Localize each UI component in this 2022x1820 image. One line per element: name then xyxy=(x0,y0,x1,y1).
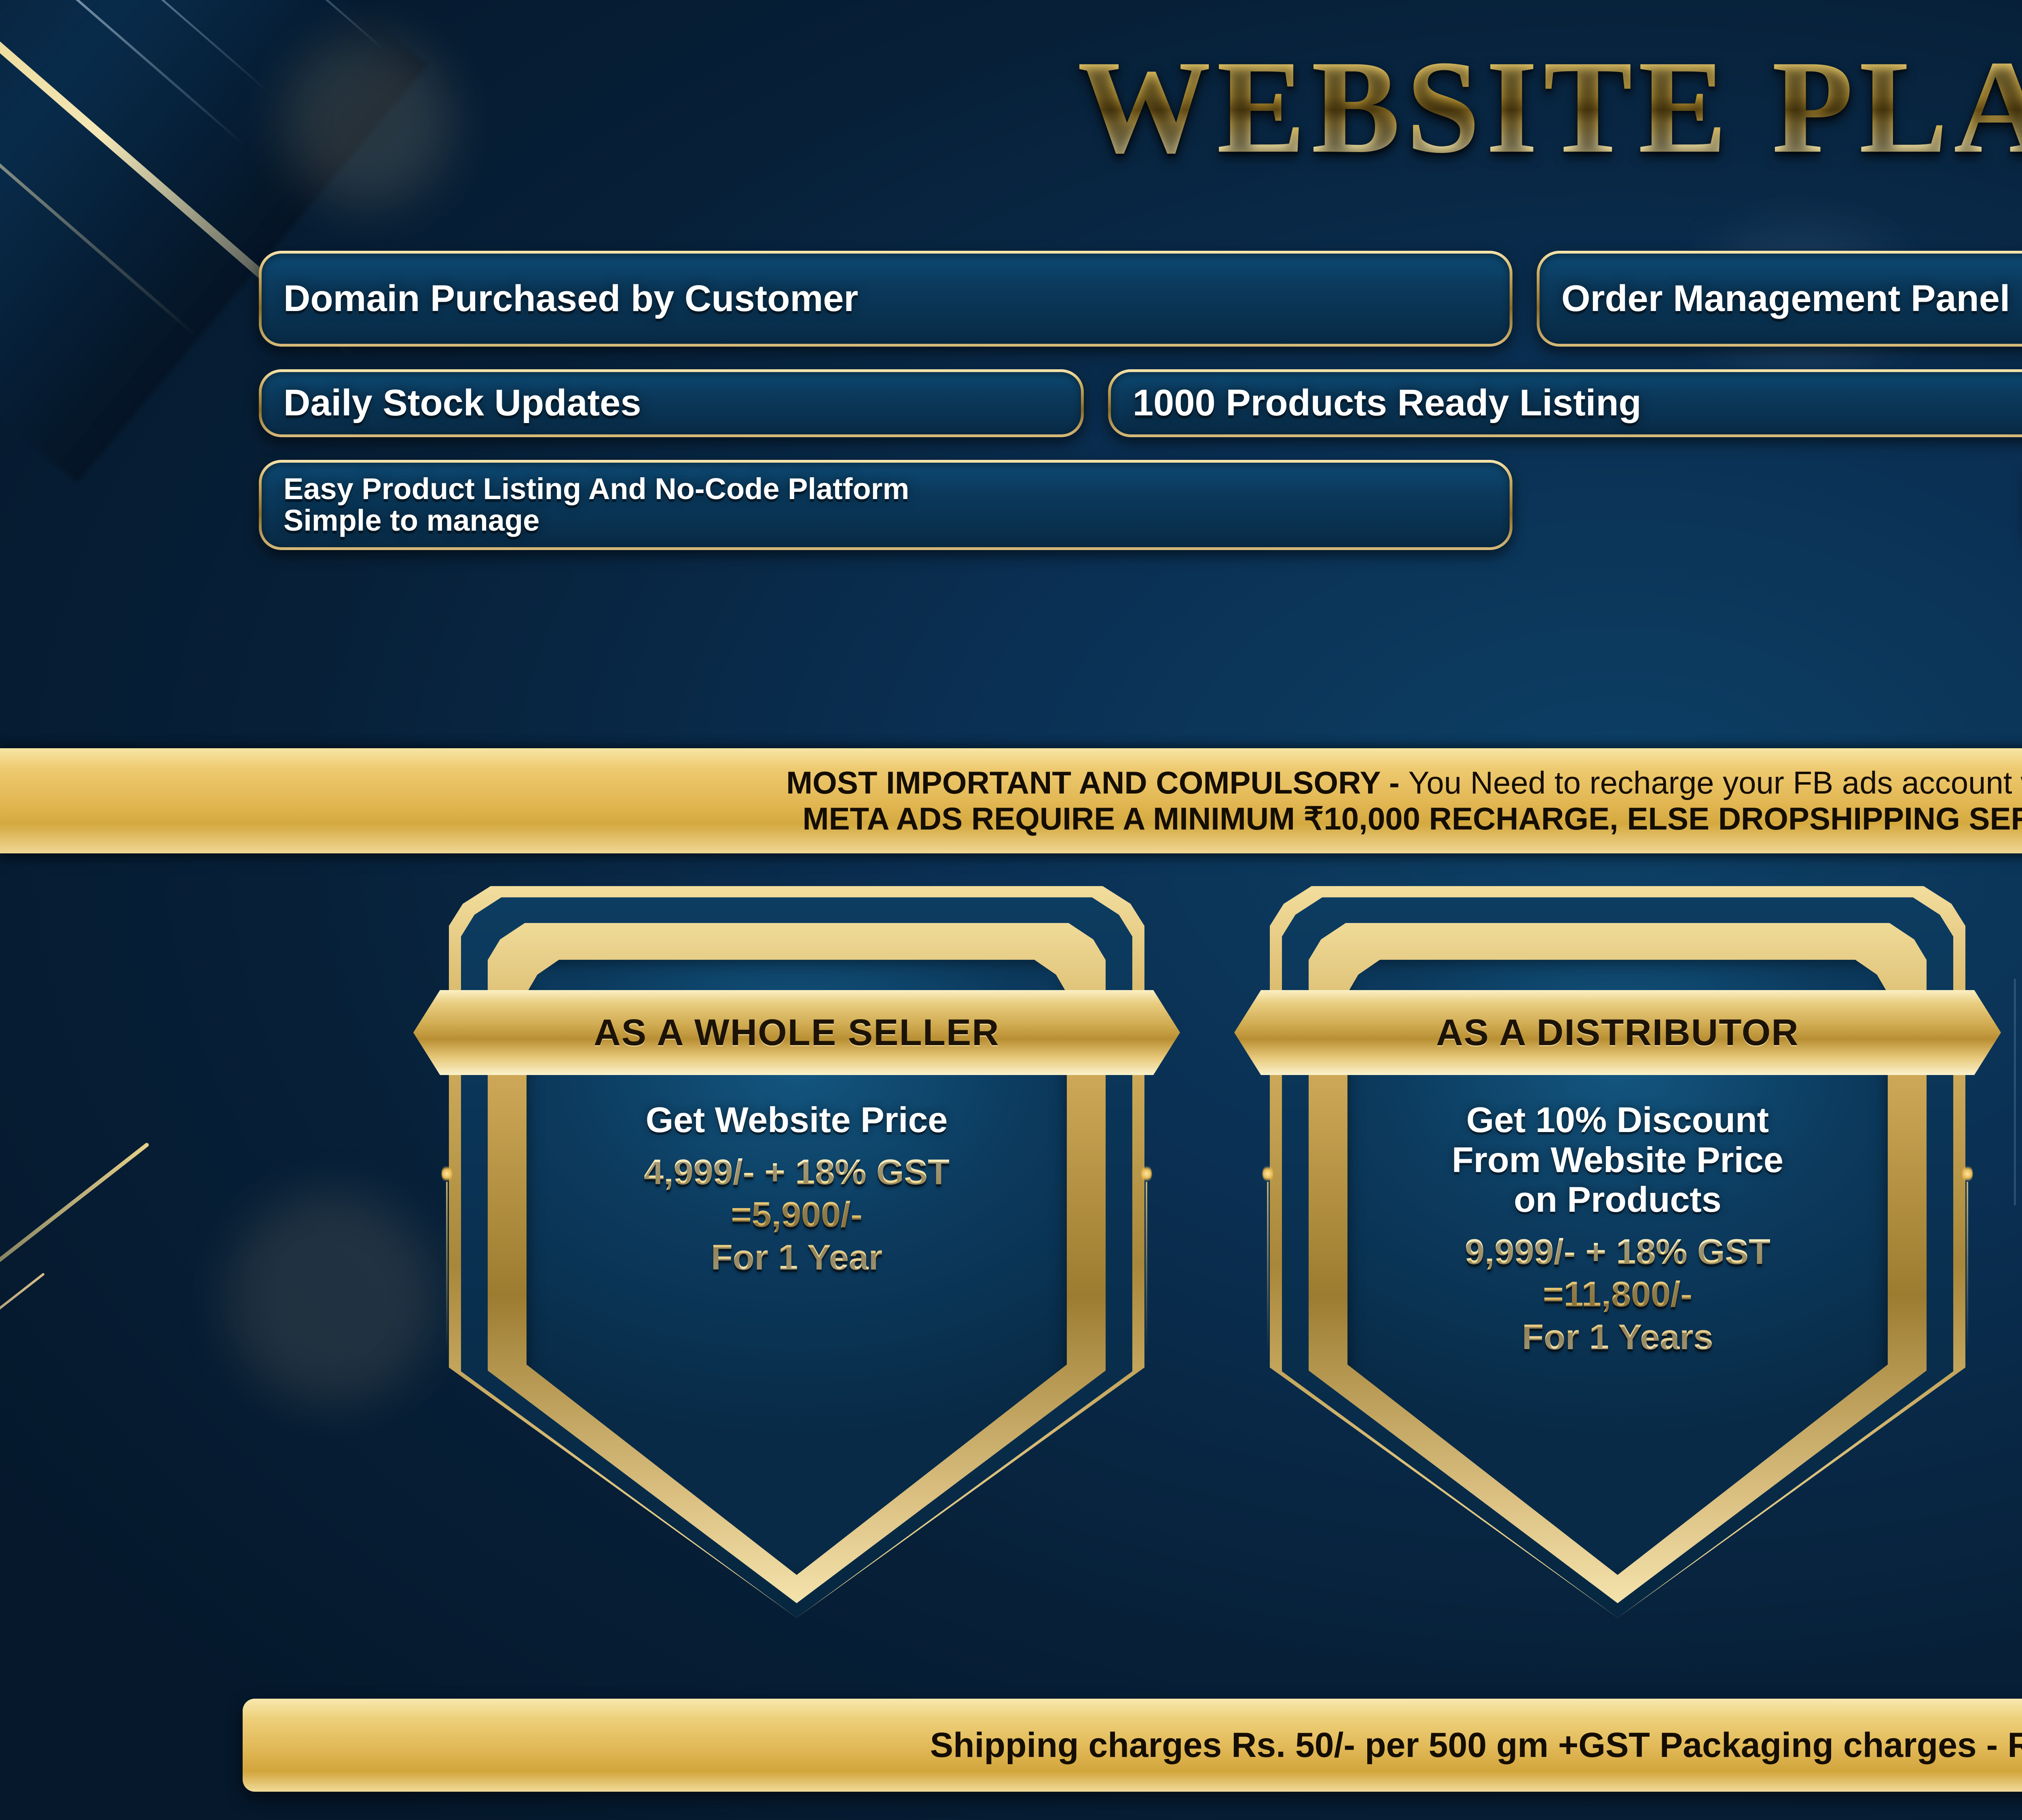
notice-line-2: META ADS REQUIRE A MINIMUM ₹10,000 RECHA… xyxy=(802,801,2022,837)
notice-line-1-rest: You Need to recharge your FB ads account… xyxy=(1408,765,2022,800)
shipping-charges-label: Shipping charges Rs. 50/- per 500 gm +GS… xyxy=(930,1725,2022,1765)
feature-row-3: Easy Product Listing And No-Code Platfor… xyxy=(259,460,2022,550)
feature-label: Domain Purchased by Customer xyxy=(283,279,858,319)
feature-pill-easy-listing[interactable]: Easy Product Listing And No-Code Platfor… xyxy=(259,460,1512,550)
notice-line-1: MOST IMPORTANT AND COMPULSORY - You Need… xyxy=(786,765,2022,801)
spark-dot xyxy=(1141,1165,1152,1183)
spark-dot xyxy=(1263,1165,1273,1183)
feature-pill-daily-stock[interactable]: Daily Stock Updates xyxy=(259,369,1084,437)
spark-dot xyxy=(442,1165,452,1183)
feature-pill-domain[interactable]: Domain Purchased by Customer xyxy=(259,251,1512,347)
poster-canvas: WEBSITE PLAN Domain Purchased by Custome… xyxy=(0,0,2022,1820)
feature-pill-order-management[interactable]: Order Management Panel No Monthly Hostin… xyxy=(1537,251,2022,347)
feature-label: 1000 Products Ready Listing xyxy=(1133,383,1641,423)
card-price: 9,999/- + 18% GST =11,800/- For 1 Years xyxy=(1330,1230,1905,1359)
card-headline: Get 10% Discount From Website Price on P… xyxy=(1330,1100,1905,1220)
card-ribbon-label: AS A DISTRIBUTOR xyxy=(1436,1012,1799,1054)
card-price: 4,999/- + 18% GST =5,900/- For 1 Year xyxy=(510,1151,1084,1279)
spark-tail xyxy=(446,1182,448,1352)
feature-pill-products-listing[interactable]: 1000 Products Ready Listing xyxy=(1108,369,2022,437)
pricing-card-whole-seller[interactable]: AS A WHOLE SELLER Get Website Price 4,99… xyxy=(449,882,1144,1618)
card-ribbon: AS A DISTRIBUTOR xyxy=(1234,990,2001,1075)
card-body: Get 10% Discount From Website Price on P… xyxy=(1330,1100,1905,1358)
pricing-card-distributor[interactable]: AS A DISTRIBUTOR Get 10% Discount From W… xyxy=(1270,882,1965,1618)
spark-dot xyxy=(1962,1165,1973,1183)
feature-row-1: Domain Purchased by Customer Order Manag… xyxy=(259,251,2022,347)
page-title: WEBSITE PLAN xyxy=(0,40,2022,174)
spark-tail xyxy=(1146,1182,1147,1352)
spark-tail xyxy=(1267,1182,1269,1352)
feature-list: Domain Purchased by Customer Order Manag… xyxy=(259,251,2022,573)
card-body: Get Website Price 4,999/- + 18% GST =5,9… xyxy=(510,1100,1084,1278)
notice-line-1-bold: MOST IMPORTANT AND COMPULSORY - xyxy=(786,765,1408,800)
card-ribbon-label: AS A WHOLE SELLER xyxy=(594,1012,999,1054)
compulsory-notice-banner: MOST IMPORTANT AND COMPULSORY - You Need… xyxy=(0,748,2022,853)
pricing-card-group: AS A WHOLE SELLER Get Website Price 4,99… xyxy=(0,882,2022,1618)
feature-row-2: Daily Stock Updates 1000 Products Ready … xyxy=(259,369,2022,437)
feature-label: Order Management Panel xyxy=(1561,279,2010,319)
feature-label: Daily Stock Updates xyxy=(283,383,641,423)
feature-label: Easy Product Listing And No-Code Platfor… xyxy=(283,473,909,537)
card-headline: Get Website Price xyxy=(510,1100,1084,1140)
spark-tail xyxy=(1967,1182,1968,1352)
card-ribbon: AS A WHOLE SELLER xyxy=(413,990,1180,1075)
shipping-charges-bar: Shipping charges Rs. 50/- per 500 gm +GS… xyxy=(243,1699,2022,1792)
